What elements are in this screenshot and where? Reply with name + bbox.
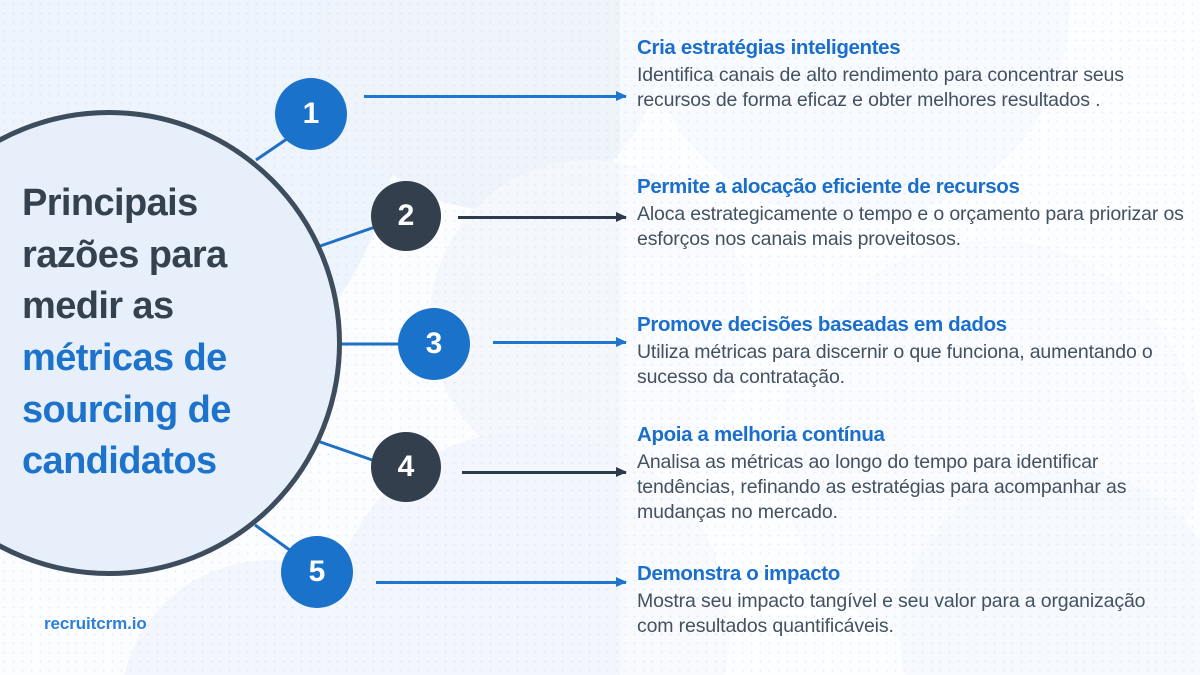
arrow-shaft [376,581,626,584]
detail-block-2: Permite a alocação eficiente de recursos… [637,175,1185,252]
step-node-4[interactable]: 4 [371,432,441,502]
arrow-1 [364,95,626,98]
infographic-canvas: Principais razões para medir as métricas… [0,0,1200,675]
step-node-1[interactable]: 1 [275,78,347,150]
title-line-2: razões para [22,230,312,282]
arrow-4 [462,471,626,474]
title-line-6: candidatos [22,436,312,488]
arrow-shaft [364,95,626,98]
step-node-3[interactable]: 3 [398,308,470,380]
arrow-head-icon [616,91,627,101]
step-number-5: 5 [309,557,326,587]
detail-body-1: Identifica canais de alto rendimento par… [637,63,1185,113]
detail-heading-4: Apoia a melhoria contínua [637,423,1193,447]
step-number-4: 4 [398,452,415,482]
step-number-2: 2 [398,201,415,231]
step-number-3: 3 [426,329,443,359]
detail-heading-2: Permite a alocação eficiente de recursos [637,175,1185,199]
title-line-5: sourcing de [22,385,312,437]
detail-block-1: Cria estratégias inteligentes Identifica… [637,36,1185,113]
detail-heading-3: Promove decisões baseadas em dados [637,313,1185,337]
detail-heading-1: Cria estratégias inteligentes [637,36,1185,60]
arrow-3 [493,341,626,344]
arrow-shaft [462,471,626,474]
detail-heading-5: Demonstra o impacto [637,562,1185,586]
title-line-3: medir as [22,281,312,333]
detail-block-3: Promove decisões baseadas em dados Utili… [637,313,1185,390]
detail-block-5: Demonstra o impacto Mostra seu impacto t… [637,562,1185,639]
step-node-2[interactable]: 2 [371,181,441,251]
detail-body-3: Utiliza métricas para discernir o que fu… [637,340,1185,390]
arrow-shaft [458,216,626,219]
arrow-head-icon [616,577,627,587]
arrow-head-icon [616,467,627,477]
title-line-1: Principais [22,178,312,230]
detail-body-2: Aloca estrategicamente o tempo e o orçam… [637,202,1185,252]
detail-body-4: Analisa as métricas ao longo do tempo pa… [637,450,1193,525]
arrow-shaft [493,341,626,344]
page-title: Principais razões para medir as métricas… [22,178,312,488]
step-number-1: 1 [303,99,320,129]
detail-block-4: Apoia a melhoria contínua Analisa as mét… [637,423,1193,525]
detail-body-5: Mostra seu impacto tangível e seu valor … [637,589,1185,639]
arrow-5 [376,581,626,584]
title-line-4: métricas de [22,333,312,385]
arrow-2 [458,216,626,219]
arrow-head-icon [616,337,627,347]
brand-logo[interactable]: recruitcrm.io [44,614,147,634]
step-node-5[interactable]: 5 [281,536,353,608]
arrow-head-icon [616,212,627,222]
